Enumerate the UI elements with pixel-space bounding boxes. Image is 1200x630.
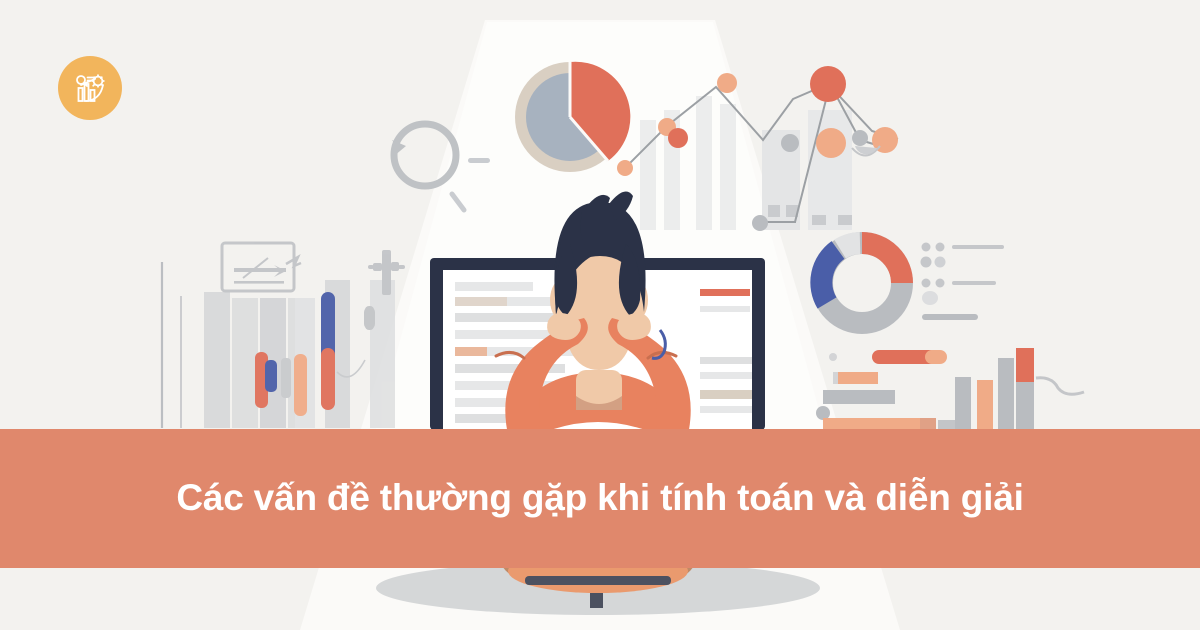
line-point: [852, 130, 868, 146]
donut-legend: [921, 243, 1005, 321]
pie-chart: [515, 62, 630, 172]
line-chart: [617, 66, 898, 231]
refresh-arrow-icon: [392, 124, 490, 210]
top-right-column-backdrop: [640, 96, 852, 230]
bar-chart-gear-magnifier-icon: [70, 68, 110, 108]
banner-title: Các vấn đề thường gặp khi tính toán và d…: [152, 477, 1047, 520]
left-bar-chart: [162, 243, 405, 428]
line-point: [810, 66, 846, 102]
line-point: [752, 215, 768, 231]
donut-chart: [821, 243, 902, 323]
line-point: [717, 73, 737, 93]
right-horizontal-bars: [816, 350, 956, 433]
line-point: [781, 134, 799, 152]
social-card: Các vấn đề thường gặp khi tính toán và d…: [0, 0, 1200, 630]
line-point: [617, 160, 633, 176]
right-column-chart: [955, 348, 1084, 429]
line-point: [816, 128, 846, 158]
title-banner: Các vấn đề thường gặp khi tính toán và d…: [0, 429, 1200, 568]
line-point: [668, 128, 688, 148]
brand-logo[interactable]: [58, 56, 122, 120]
